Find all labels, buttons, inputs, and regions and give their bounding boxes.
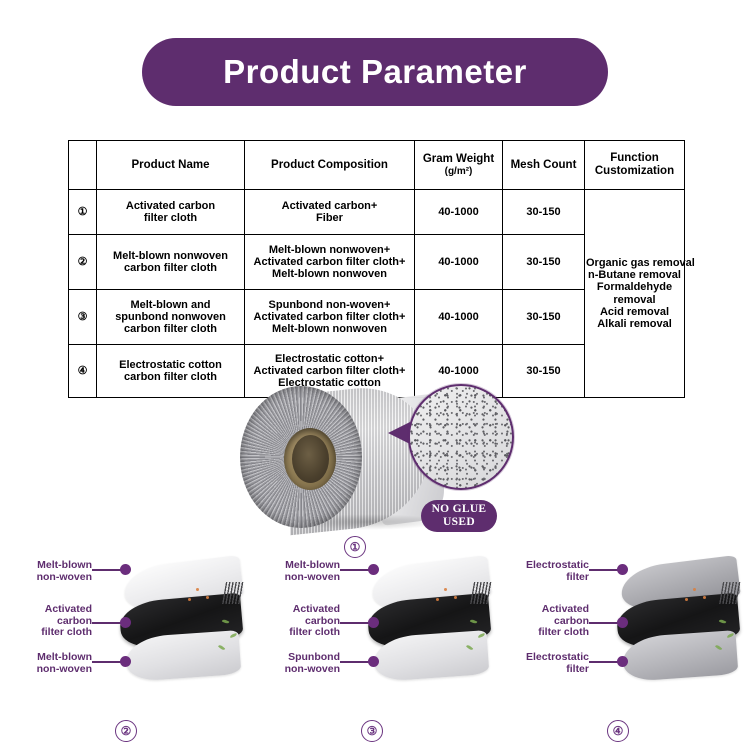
leader-dot-mid-2 xyxy=(120,617,131,628)
layer-stack-3 xyxy=(366,558,496,686)
layer-diagrams: Melt-blown non-woven Activated carbon fi… xyxy=(0,552,750,750)
header-function-line2: Customization xyxy=(595,165,674,177)
leader-dot-top-3 xyxy=(368,564,379,575)
row-mesh-count-1: 30-150 xyxy=(503,190,585,235)
label-mid-4: Activated carbon filter cloth xyxy=(499,604,589,639)
leader-dot-bottom-2 xyxy=(120,656,131,667)
label-top-4-line1: Electrostatic xyxy=(526,559,589,571)
row-gram-weight-3: 40-1000 xyxy=(415,290,503,345)
row-comp-3-line3: Melt-blown nonwoven xyxy=(272,323,387,335)
label-top-4: Electrostatic filter xyxy=(503,560,589,583)
function-item-3: removal xyxy=(613,294,655,306)
row-comp-3-line2: Activated carbon filter cloth+ xyxy=(254,311,406,323)
row-name-2: Melt-blown nonwoven carbon filter cloth xyxy=(97,235,245,290)
label-bottom-3-line1: Spunbond xyxy=(288,651,340,663)
no-glue-badge: NO GLUE USED xyxy=(421,500,497,532)
row-comp-2-line1: Melt-blown nonwoven+ xyxy=(269,244,390,256)
leader-dot-top-2 xyxy=(120,564,131,575)
row-number-1: ① xyxy=(69,190,97,235)
fiber-edge-icon xyxy=(222,582,244,604)
row-gram-weight-2: 40-1000 xyxy=(415,235,503,290)
label-top-3: Melt-blown non-woven xyxy=(260,560,340,583)
label-mid-3-line1: Activated xyxy=(293,603,340,615)
label-mid-3: Activated carbon filter cloth xyxy=(250,604,340,639)
diagram-marker-4: ④ xyxy=(607,720,629,742)
title-banner: Product Parameter xyxy=(142,38,608,106)
row-comp-4-line1: Electrostatic cotton+ xyxy=(275,353,384,365)
table-header-row: Product Name Product Composition Gram We… xyxy=(69,141,685,190)
label-mid-2-line2: carbon xyxy=(57,615,92,627)
row-name-1: Activated carbon filter cloth xyxy=(97,190,245,235)
particle-dot xyxy=(206,596,209,599)
row-comp-3-line1: Spunbond non-woven+ xyxy=(269,299,391,311)
function-item-4: Acid removal xyxy=(600,306,669,318)
label-mid-4-line2: carbon xyxy=(554,615,589,627)
row-composition-1: Activated carbon+ Fiber xyxy=(245,190,415,235)
header-gram-weight: Gram Weight (g/m²) xyxy=(415,141,503,190)
roll-face xyxy=(240,386,362,528)
leader-dot-mid-4 xyxy=(617,617,628,628)
layer-diagram-3: Melt-blown non-woven Activated carbon fi… xyxy=(248,552,498,750)
row-mesh-count-2: 30-150 xyxy=(503,235,585,290)
label-mid-2-line3: filter cloth xyxy=(41,626,92,638)
row-name-3-line2: spunbond nonwoven xyxy=(115,311,226,323)
row-name-3-line1: Melt-blown and xyxy=(130,299,210,311)
row-composition-2: Melt-blown nonwoven+ Activated carbon fi… xyxy=(245,235,415,290)
label-bottom-4: Electrostatic filter xyxy=(503,652,589,675)
header-mesh-count: Mesh Count xyxy=(503,141,585,190)
magnifier-pointer-icon xyxy=(388,422,410,444)
label-top-3-line2: non-woven xyxy=(285,571,340,583)
row-comp-2-line3: Melt-blown nonwoven xyxy=(272,268,387,280)
label-top-3-line1: Melt-blown xyxy=(285,559,340,571)
header-product-composition: Product Composition xyxy=(245,141,415,190)
function-item-1: n-Butane removal xyxy=(588,269,681,281)
row-comp-1-line1: Activated carbon+ xyxy=(282,200,378,212)
label-mid-3-line2: carbon xyxy=(305,615,340,627)
particle-dot xyxy=(196,588,199,591)
fiber-edge-icon xyxy=(719,582,741,604)
row-number-3: ③ xyxy=(69,290,97,345)
title-banner-wrap: Product Parameter xyxy=(0,38,750,106)
label-bottom-3: Spunbond non-woven xyxy=(260,652,340,675)
function-item-5: Alkali removal xyxy=(597,318,672,330)
label-mid-2: Activated carbon filter cloth xyxy=(2,604,92,639)
roll-hole xyxy=(292,435,329,483)
label-bottom-2-line1: Melt-blown xyxy=(37,651,92,663)
layer-stack-2 xyxy=(118,558,248,686)
label-mid-4-line3: filter cloth xyxy=(538,626,589,638)
label-bottom-4-line1: Electrostatic xyxy=(526,651,589,663)
label-mid-2-line1: Activated xyxy=(45,603,92,615)
leader-dot-mid-3 xyxy=(368,617,379,628)
row-comp-2-line2: Activated carbon filter cloth+ xyxy=(254,256,406,268)
row-mesh-count-3: 30-150 xyxy=(503,290,585,345)
label-bottom-3-line2: non-woven xyxy=(285,663,340,675)
particle-dot xyxy=(703,596,706,599)
leader-dot-bottom-3 xyxy=(368,656,379,667)
fiber-edge-icon xyxy=(470,582,492,604)
row-name-1-line1: Activated carbon xyxy=(126,200,215,212)
diagram-marker-3: ③ xyxy=(361,720,383,742)
row-comp-1-line2: Fiber xyxy=(316,212,343,224)
roll-photo-section xyxy=(0,382,750,552)
no-glue-line1: NO GLUE xyxy=(432,503,487,516)
function-item-0: Organic gas removal xyxy=(586,257,695,269)
row-name-3-line3: carbon filter cloth xyxy=(124,323,217,335)
layer-diagram-2: Melt-blown non-woven Activated carbon fi… xyxy=(0,552,250,750)
label-top-2-line1: Melt-blown xyxy=(37,559,92,571)
particle-dot xyxy=(444,588,447,591)
parameter-table-wrap: Product Name Product Composition Gram We… xyxy=(68,140,684,398)
row-comp-4-line2: Activated carbon filter cloth+ xyxy=(254,365,406,377)
header-function-customization: Function Customization xyxy=(585,141,685,190)
row-gram-weight-1: 40-1000 xyxy=(415,190,503,235)
page-title: Product Parameter xyxy=(223,53,527,91)
label-bottom-2-line2: non-woven xyxy=(37,663,92,675)
row-number-2: ② xyxy=(69,235,97,290)
header-gram-weight-label: Gram Weight xyxy=(423,153,494,165)
particle-dot xyxy=(693,588,696,591)
function-customization-cell: Organic gas removal n-Butane removal For… xyxy=(585,190,685,398)
label-top-2-line2: non-woven xyxy=(37,571,92,583)
header-number xyxy=(69,141,97,190)
label-mid-4-line1: Activated xyxy=(542,603,589,615)
row-composition-3: Spunbond non-woven+ Activated carbon fil… xyxy=(245,290,415,345)
particle-dot xyxy=(454,596,457,599)
row-name-3: Melt-blown and spunbond nonwoven carbon … xyxy=(97,290,245,345)
leader-dot-top-4 xyxy=(617,564,628,575)
layer-stack-4 xyxy=(615,558,745,686)
particle-dot xyxy=(685,598,688,601)
particle-dot xyxy=(188,598,191,601)
function-item-2: Formaldehyde xyxy=(597,281,672,293)
layer-diagram-4: Electrostatic filter Activated carbon fi… xyxy=(497,552,747,750)
parameter-table: Product Name Product Composition Gram We… xyxy=(68,140,685,398)
header-product-name: Product Name xyxy=(97,141,245,190)
magnified-fabric-detail xyxy=(408,384,514,490)
header-gram-weight-unit: (g/m²) xyxy=(416,166,501,177)
label-bottom-2: Melt-blown non-woven xyxy=(12,652,92,675)
particle-dot xyxy=(436,598,439,601)
table-row: ① Activated carbon filter cloth Activate… xyxy=(69,190,685,235)
leader-dot-bottom-4 xyxy=(617,656,628,667)
row-name-4-line1: Electrostatic cotton xyxy=(119,359,222,371)
no-glue-line2: USED xyxy=(443,516,475,529)
row-name-2-line2: carbon filter cloth xyxy=(124,262,217,274)
row-name-1-line2: filter cloth xyxy=(144,212,197,224)
label-top-4-line2: filter xyxy=(566,571,589,583)
diagram-marker-2: ② xyxy=(115,720,137,742)
fabric-roll-image xyxy=(232,382,442,530)
row-name-2-line1: Melt-blown nonwoven xyxy=(113,250,228,262)
label-mid-3-line3: filter cloth xyxy=(289,626,340,638)
header-function-line1: Function xyxy=(610,152,659,164)
label-top-2: Melt-blown non-woven xyxy=(12,560,92,583)
label-bottom-4-line2: filter xyxy=(566,663,589,675)
